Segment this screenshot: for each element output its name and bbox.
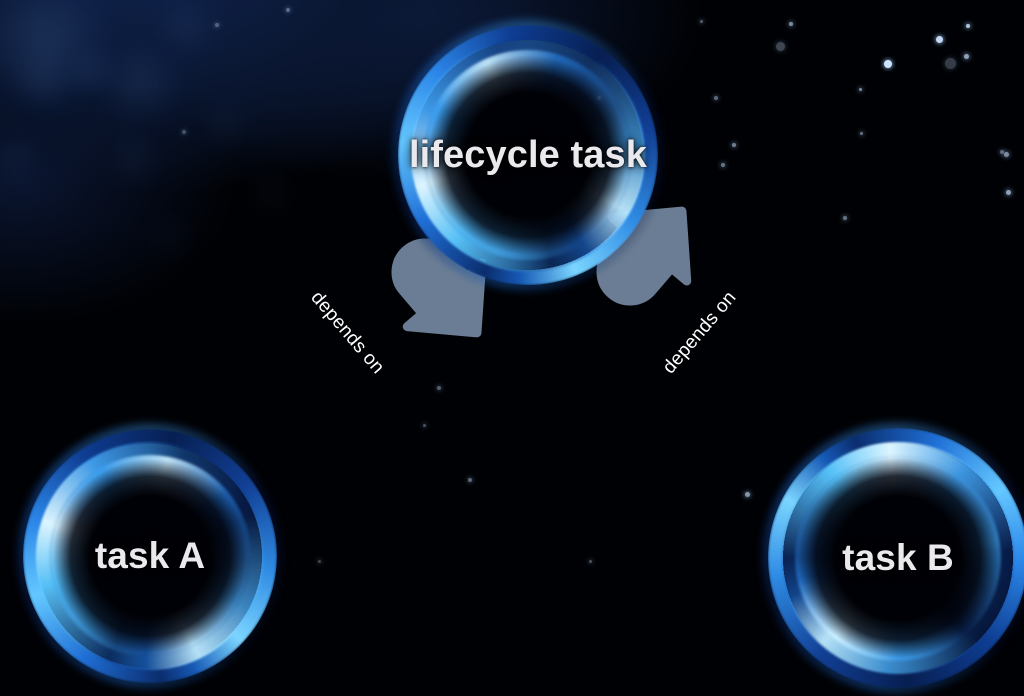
ring-core: [53, 459, 247, 653]
node-task-b[interactable]: task B: [768, 428, 1024, 688]
diagram-canvas: depends on depends on lifecycle task tas…: [0, 0, 1024, 696]
ring-core: [798, 458, 998, 658]
node-lifecycle-task[interactable]: lifecycle task: [398, 25, 658, 285]
ring-core: [428, 55, 628, 255]
node-task-a[interactable]: task A: [23, 429, 277, 683]
